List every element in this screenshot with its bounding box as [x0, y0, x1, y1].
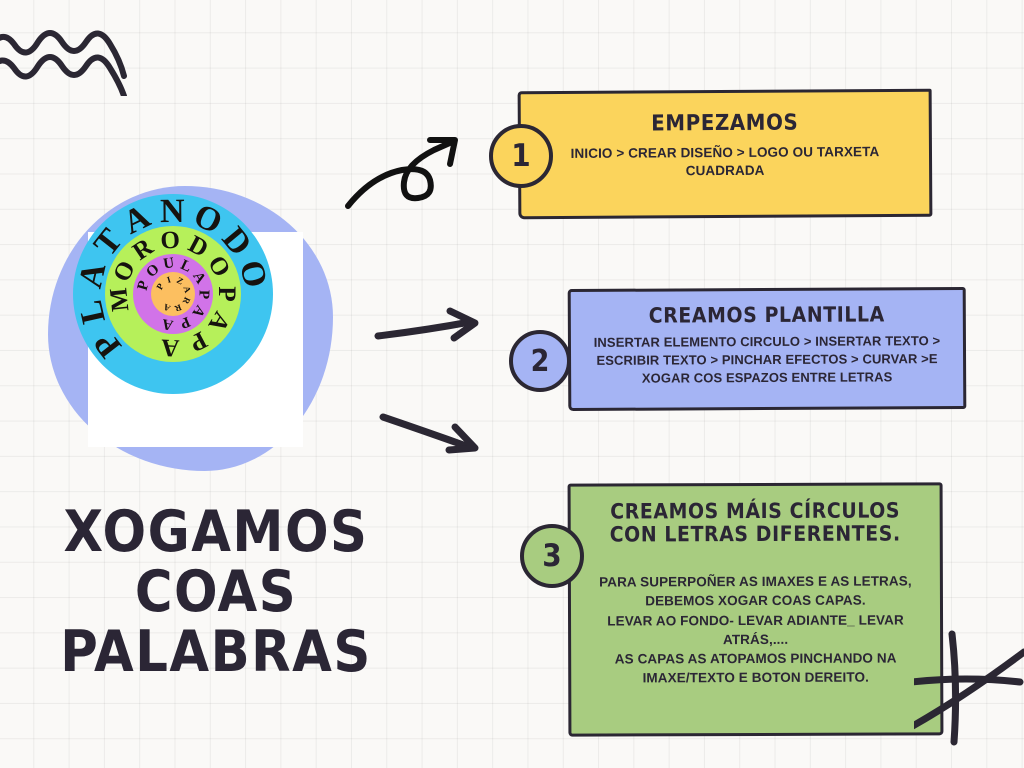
ring-center-orange: PIZARRA — [151, 272, 195, 316]
wavy-lines-icon — [0, 26, 146, 96]
step-3-badge: 3 — [520, 524, 584, 588]
step-2-badge: 2 — [509, 330, 571, 392]
circular-word-art: PLATANODO MORODOPAPA POULAPAPA PIZARRA — [48, 186, 348, 486]
step-1-badge: 1 — [489, 124, 553, 188]
straight-arrow-icon — [372, 303, 490, 358]
step-3-title: CREAMOS MÁIS CÍRCULOS CON LETRAS DIFEREN… — [571, 499, 940, 546]
down-arrow-icon — [377, 404, 495, 459]
step-1-body: INICIO > CREAR DISEÑO > LOGO OU TARXETA … — [521, 143, 929, 181]
step-3-number: 3 — [542, 538, 561, 574]
step-2-number: 2 — [531, 344, 550, 379]
page-title-line-1: XOGAMOS — [46, 505, 386, 561]
step-3-body: PARA SUPERPOÑER AS IMAXES E AS LETRAS, D… — [571, 572, 940, 688]
page-title: XOGAMOS COAS PALABRAS — [46, 505, 386, 685]
cross-scribble-icon — [914, 620, 1024, 750]
infographic-canvas: PLATANODO MORODOPAPA POULAPAPA PIZARRA X… — [0, 0, 1024, 768]
step-1-number: 1 — [511, 138, 530, 174]
step-2-body: INSERTAR ELEMENTO CIRCULO > INSERTAR TEX… — [571, 332, 963, 388]
page-title-line-3: PALABRAS — [46, 625, 386, 681]
step-1-box: EMPEZAMOS INICIO > CREAR DISEÑO > LOGO O… — [518, 89, 933, 220]
step-2-box: CREAMOS PLANTILLA INSERTAR ELEMENTO CIRC… — [568, 287, 967, 411]
step-2-title: CREAMOS PLANTILLA — [571, 302, 963, 328]
step-3-box: CREAMOS MÁIS CÍRCULOS CON LETRAS DIFEREN… — [568, 482, 944, 736]
looped-arrow-icon — [342, 124, 467, 210]
page-title-line-2: COAS — [46, 565, 386, 621]
step-1-title: EMPEZAMOS — [521, 110, 929, 137]
center-ring-text: PIZARRA — [151, 272, 195, 316]
